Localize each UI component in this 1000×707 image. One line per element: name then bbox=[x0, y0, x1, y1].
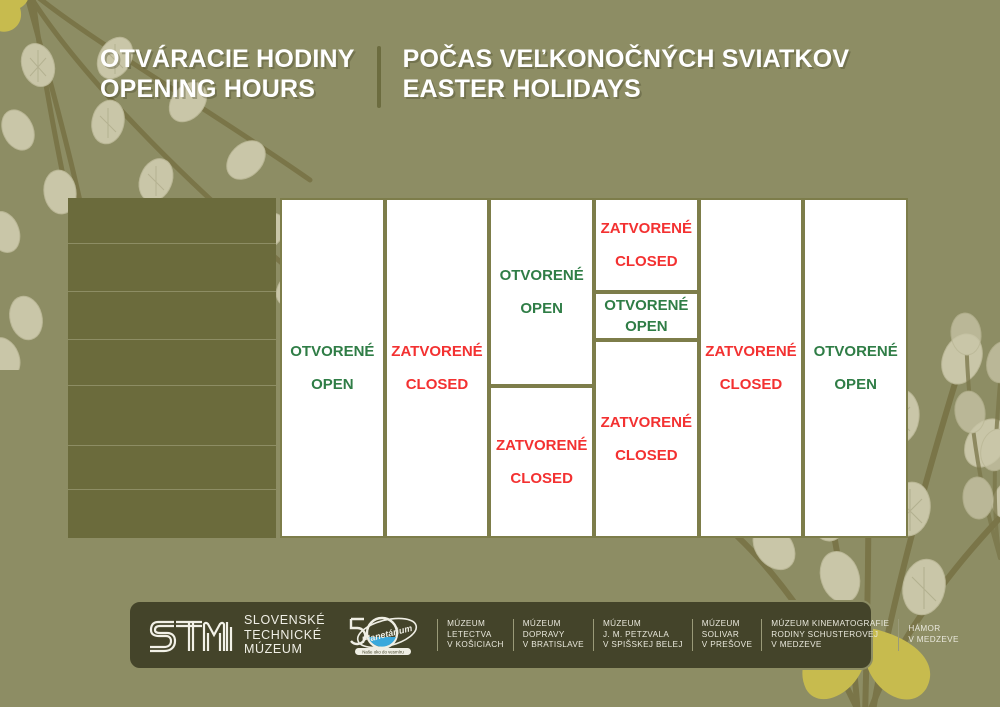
planetarium-tagline: Naše oko do vesmíru bbox=[362, 649, 404, 654]
status-column-21-4: ZATVORENÉCLOSED bbox=[699, 198, 804, 538]
status-cell-17-4-open: OTVORENÉOPEN bbox=[280, 198, 385, 538]
status-label-en: CLOSED bbox=[615, 447, 678, 464]
museum-entry-line: LETECTVA bbox=[447, 630, 504, 641]
title-left: OTVÁRACIE HODINY OPENING HOURS bbox=[100, 44, 355, 104]
museum-entry-line: MÚZEUM bbox=[447, 619, 504, 630]
stm-wordmark-line: MÚZEUM bbox=[244, 642, 325, 657]
table-row-label bbox=[68, 198, 276, 244]
title-left-line1: OTVÁRACIE HODINY bbox=[100, 44, 355, 74]
status-cell-20-4-closed: ZATVORENÉCLOSED bbox=[594, 198, 699, 292]
museum-entry-line: V PREŠOVE bbox=[702, 640, 752, 651]
status-column-22-4: OTVORENÉOPEN bbox=[803, 198, 908, 538]
planetarium-50-logo: Planetárium Naše oko do vesmíru bbox=[341, 613, 423, 657]
stm-logo: SLOVENSKÉTECHNICKÉMÚZEUM bbox=[148, 613, 325, 657]
date-header-19-4 bbox=[489, 145, 594, 195]
yellow-ribbon-top-icon bbox=[0, 0, 29, 32]
table-date-header-row bbox=[280, 145, 908, 195]
table-row-label bbox=[68, 386, 276, 446]
poster-header: OTVÁRACIE HODINY OPENING HOURS POČAS VEĽ… bbox=[100, 44, 849, 108]
stm-wordmark: SLOVENSKÉTECHNICKÉMÚZEUM bbox=[244, 613, 325, 657]
status-label-sk: OTVORENÉ bbox=[814, 343, 898, 360]
museum-entry-line: MÚZEUM KINEMATOGRAFIE bbox=[771, 619, 889, 630]
museum-entry: MÚZEUMSOLIVARV PREŠOVE bbox=[692, 619, 761, 651]
status-label-en: CLOSED bbox=[510, 470, 573, 487]
status-label-sk: ZATVORENÉ bbox=[391, 343, 482, 360]
museum-branch-list: MÚZEUMLETECTVAV KOŠICIACHMÚZEUMDOPRAVYV … bbox=[437, 619, 968, 651]
status-column-20-4: ZATVORENÉCLOSEDOTVORENÉOPENZATVORENÉCLOS… bbox=[594, 198, 699, 538]
status-cell-21-4-closed: ZATVORENÉCLOSED bbox=[699, 198, 804, 538]
museum-entry-line: DOPRAVY bbox=[523, 630, 584, 641]
status-label-sk: ZATVORENÉ bbox=[705, 343, 796, 360]
status-label-en: OPEN bbox=[520, 300, 563, 317]
planetarium-logo-icon: Planetárium Naše oko do vesmíru bbox=[341, 613, 423, 657]
museum-entry-line: MÚZEUM bbox=[603, 619, 683, 630]
table-row-label bbox=[68, 490, 276, 538]
status-label-sk: OTVORENÉ bbox=[604, 297, 688, 314]
date-header-17-4 bbox=[280, 145, 385, 195]
date-header-20-4 bbox=[594, 145, 699, 195]
title-divider bbox=[377, 46, 381, 108]
table-status-grid: OTVORENÉOPENZATVORENÉCLOSEDOTVORENÉOPENZ… bbox=[280, 198, 908, 538]
status-cell-20-4-closed: ZATVORENÉCLOSED bbox=[594, 340, 699, 538]
status-label-en: CLOSED bbox=[615, 253, 678, 270]
stm-monogram-icon bbox=[148, 615, 234, 655]
museum-entry-line: J. M. PETZVALA bbox=[603, 630, 683, 641]
status-label-en: CLOSED bbox=[406, 376, 469, 393]
status-column-17-4: OTVORENÉOPEN bbox=[280, 198, 385, 538]
museum-entry-line: MÚZEUM bbox=[523, 619, 584, 630]
title-right-line1: POČAS VEĽKONOČNÝCH SVIATKOV bbox=[403, 44, 850, 74]
status-label-sk: ZATVORENÉ bbox=[601, 220, 692, 237]
title-left-line2: OPENING HOURS bbox=[100, 74, 355, 104]
date-header-18-4 bbox=[385, 145, 490, 195]
museum-entry-line: SOLIVAR bbox=[702, 630, 752, 641]
status-cell-22-4-open: OTVORENÉOPEN bbox=[803, 198, 908, 538]
status-cell-19-4-open: OTVORENÉOPEN bbox=[489, 198, 594, 386]
table-row-label bbox=[68, 244, 276, 292]
museum-entry: MÚZEUMJ. M. PETZVALAV SPIŠSKEJ BELEJ bbox=[593, 619, 692, 651]
status-label-en: OPEN bbox=[311, 376, 354, 393]
date-header-22-4 bbox=[803, 145, 908, 195]
status-label-en: CLOSED bbox=[720, 376, 783, 393]
museum-entry-line: V MEDZEVE bbox=[908, 635, 958, 646]
status-label-en: OPEN bbox=[834, 376, 877, 393]
poster-canvas: OTVÁRACIE HODINY OPENING HOURS POČAS VEĽ… bbox=[0, 0, 1000, 707]
museum-entry-line: V SPIŠSKEJ BELEJ bbox=[603, 640, 683, 651]
table-row-label bbox=[68, 446, 276, 490]
stm-wordmark-line: TECHNICKÉ bbox=[244, 628, 325, 643]
status-label-sk: OTVORENÉ bbox=[500, 267, 584, 284]
footer-logo-bar: SLOVENSKÉTECHNICKÉMÚZEUM Planetárium Naš… bbox=[128, 600, 873, 670]
status-label-sk: OTVORENÉ bbox=[290, 343, 374, 360]
status-label-sk: ZATVORENÉ bbox=[496, 437, 587, 454]
table-row-label bbox=[68, 292, 276, 340]
title-right: POČAS VEĽKONOČNÝCH SVIATKOV EASTER HOLID… bbox=[403, 44, 850, 104]
museum-entry-line: V KOŠICIACH bbox=[447, 640, 504, 651]
status-column-18-4: ZATVORENÉCLOSED bbox=[385, 198, 490, 538]
museum-entry-line: V BRATISLAVE bbox=[523, 640, 584, 651]
museum-entry: HÁMORV MEDZEVE bbox=[898, 619, 967, 651]
museum-entry-line: V MEDZEVE bbox=[771, 640, 889, 651]
museum-entry: MÚZEUM KINEMATOGRAFIERODINY SCHUSTEROVEJ… bbox=[761, 619, 898, 651]
museum-entry-line: HÁMOR bbox=[908, 624, 958, 635]
museum-entry: MÚZEUMLETECTVAV KOŠICIACH bbox=[437, 619, 513, 651]
status-cell-20-4-open: OTVORENÉOPEN bbox=[594, 292, 699, 340]
status-label-sk: ZATVORENÉ bbox=[601, 414, 692, 431]
museum-entry-line: MÚZEUM bbox=[702, 619, 752, 630]
table-row-label bbox=[68, 340, 276, 386]
museum-entry: MÚZEUMDOPRAVYV BRATISLAVE bbox=[513, 619, 593, 651]
museum-entry-line: RODINY SCHUSTEROVEJ bbox=[771, 630, 889, 641]
opening-hours-table: OTVORENÉOPENZATVORENÉCLOSEDOTVORENÉOPENZ… bbox=[68, 140, 908, 590]
status-column-19-4: OTVORENÉOPENZATVORENÉCLOSED bbox=[489, 198, 594, 538]
stm-wordmark-line: SLOVENSKÉ bbox=[244, 613, 325, 628]
date-header-21-4 bbox=[699, 145, 804, 195]
table-row-label-column bbox=[68, 198, 276, 538]
status-label-en: OPEN bbox=[625, 318, 668, 335]
status-cell-18-4-closed: ZATVORENÉCLOSED bbox=[385, 198, 490, 538]
title-right-line2: EASTER HOLIDAYS bbox=[403, 74, 850, 104]
status-cell-19-4-closed: ZATVORENÉCLOSED bbox=[489, 386, 594, 538]
